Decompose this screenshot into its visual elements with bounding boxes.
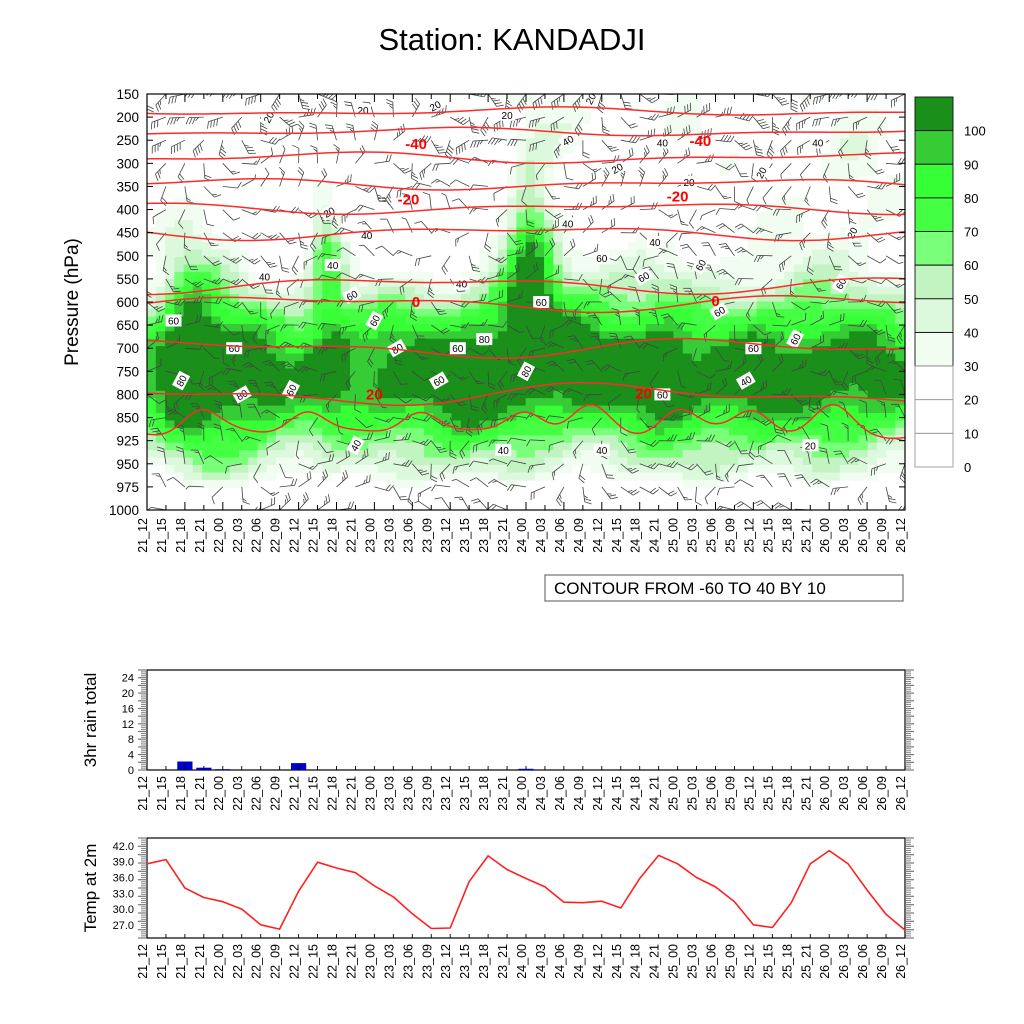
humidity-cell — [803, 339, 813, 347]
humidity-cell — [581, 383, 591, 391]
humidity-cell — [174, 272, 184, 280]
humidity-cell — [544, 190, 554, 198]
humidity-cell — [535, 212, 545, 220]
wind-barb-shaft — [189, 117, 204, 118]
humidity-cell — [174, 242, 184, 250]
humidity-cell — [618, 279, 628, 287]
humidity-cell — [803, 250, 813, 258]
humidity-cell — [221, 472, 231, 480]
humidity-cell — [479, 472, 489, 480]
humidity-cell — [526, 190, 536, 198]
humidity-cell — [637, 250, 647, 258]
wind-barb-flag — [510, 514, 511, 521]
humidity-cell — [535, 287, 545, 295]
humidity-cell — [276, 316, 286, 324]
humidity-cell — [276, 450, 286, 458]
humidity-cell — [590, 294, 600, 302]
humidity-cell — [729, 287, 739, 295]
humidity-cell — [563, 428, 573, 436]
humidity-cell — [489, 316, 499, 324]
humidity-cell — [710, 361, 720, 369]
humidity-cell — [331, 331, 341, 339]
humidity-cell — [202, 339, 212, 347]
humidity-cell — [794, 465, 804, 473]
humidity-cell — [258, 420, 268, 428]
humidity-cell — [258, 443, 268, 451]
humidity-cell — [794, 458, 804, 466]
humidity-cell — [479, 287, 489, 295]
humidity-cell — [452, 443, 462, 451]
humidity-cell — [812, 383, 822, 391]
humidity-cell — [230, 376, 240, 384]
humidity-cell — [507, 309, 517, 317]
humidity-cell — [285, 302, 295, 310]
humidity-cell — [618, 354, 628, 362]
humidity-cell — [313, 190, 323, 198]
humidity-cell — [600, 391, 610, 399]
wind-barb-flag — [140, 431, 144, 437]
humidity-cell — [646, 354, 656, 362]
humidity-cell — [664, 420, 674, 428]
humidity-cell — [211, 480, 221, 488]
wind-barb-shaft — [776, 209, 791, 210]
humidity-cell — [147, 383, 157, 391]
humidity-cell — [230, 450, 240, 458]
humidity-cell — [729, 450, 739, 458]
wind-barb-flag — [356, 78, 361, 83]
humidity-cell — [563, 123, 573, 131]
humidity-cell — [147, 406, 157, 414]
humidity-cell — [572, 420, 582, 428]
humidity-cell — [692, 472, 702, 480]
humidity-cell — [544, 458, 554, 466]
humidity-cell — [267, 368, 277, 376]
humidity-cell — [794, 257, 804, 265]
humidity-cell — [239, 465, 249, 473]
humidity-cell — [165, 420, 175, 428]
humidity-cell — [840, 465, 850, 473]
humidity-cell — [258, 435, 268, 443]
wind-barb-shaft — [355, 80, 361, 94]
humidity-cell — [831, 138, 841, 146]
humidity-cell — [331, 383, 341, 391]
humidity-cell — [637, 420, 647, 428]
humidity-cell — [563, 406, 573, 414]
humidity-cell — [812, 376, 822, 384]
humidity-cell — [452, 435, 462, 443]
humidity-cell — [350, 376, 360, 384]
humidity-cell — [710, 398, 720, 406]
humidity-cell — [710, 331, 720, 339]
humidity-cell — [267, 413, 277, 421]
humidity-cell — [766, 376, 776, 384]
humidity-cell — [609, 391, 619, 399]
wind-barb-flag — [432, 82, 434, 86]
humidity-cell — [627, 324, 637, 332]
humidity-cell — [895, 398, 905, 406]
wind-barb-flag — [746, 83, 747, 90]
wind-barb-flag — [357, 75, 362, 80]
humidity-cell — [757, 376, 767, 384]
humidity-cell — [156, 413, 166, 421]
humidity-cell — [202, 331, 212, 339]
humidity-cell — [415, 324, 425, 332]
humidity-cell — [821, 361, 831, 369]
humidity-cell — [313, 361, 323, 369]
humidity-cell — [895, 428, 905, 436]
humidity-cell — [664, 376, 674, 384]
humidity-cell — [535, 406, 545, 414]
humidity-cell — [886, 346, 896, 354]
humidity-cell — [886, 406, 896, 414]
humidity-cell — [156, 250, 166, 258]
humidity-cell — [424, 302, 434, 310]
humidity-cell — [544, 376, 554, 384]
humidity-cell — [692, 339, 702, 347]
humidity-cell — [544, 316, 554, 324]
wind-barb-shaft — [716, 85, 728, 94]
humidity-cell — [405, 472, 415, 480]
humidity-cell — [202, 383, 212, 391]
humidity-cell — [184, 458, 194, 466]
humidity-cell — [692, 450, 702, 458]
humidity-cell — [812, 458, 822, 466]
humidity-cell — [747, 398, 757, 406]
humidity-cell — [766, 435, 776, 443]
humidity-cell — [193, 242, 203, 250]
humidity-cell — [452, 368, 462, 376]
humidity-cell — [868, 443, 878, 451]
humidity-cell — [572, 250, 582, 258]
humidity-cell — [276, 354, 286, 362]
wind-barb-flag — [491, 99, 496, 100]
humidity-cell — [516, 309, 526, 317]
humidity-cell — [267, 443, 277, 451]
humidity-cell — [784, 250, 794, 258]
humidity-cell — [627, 316, 637, 324]
wind-barb-flag — [284, 307, 285, 314]
humidity-cell — [489, 235, 499, 243]
humidity-cell — [165, 205, 175, 213]
humidity-cell — [470, 450, 480, 458]
humidity-cell — [184, 205, 194, 213]
humidity-cell — [858, 472, 868, 480]
humidity-cell — [849, 331, 859, 339]
wind-barb-flag — [686, 86, 687, 90]
humidity-cell — [784, 227, 794, 235]
humidity-cell — [849, 160, 859, 168]
humidity-cell — [378, 361, 388, 369]
humidity-cell — [507, 198, 517, 206]
humidity-cell — [553, 123, 563, 131]
humidity-cell — [230, 324, 240, 332]
humidity-cell — [174, 250, 184, 258]
humidity-cell — [313, 183, 323, 191]
humidity-cell — [812, 354, 822, 362]
humidity-cell — [239, 250, 249, 258]
humidity-cell — [766, 346, 776, 354]
humidity-cell — [609, 316, 619, 324]
humidity-cell — [239, 450, 249, 458]
humidity-cell — [683, 116, 693, 124]
humidity-cell — [507, 168, 517, 176]
humidity-cell — [803, 331, 813, 339]
humidity-cell — [368, 465, 378, 473]
humidity-cell — [147, 398, 157, 406]
humidity-cell — [230, 272, 240, 280]
humidity-cell — [747, 331, 757, 339]
humidity-cell — [387, 391, 397, 399]
humidity-cell — [285, 450, 295, 458]
wind-barb-flag — [701, 243, 708, 244]
humidity-cell — [350, 316, 360, 324]
humidity-cell — [230, 287, 240, 295]
humidity-cell — [526, 428, 536, 436]
humidity-cell — [637, 354, 647, 362]
humidity-cell — [276, 331, 286, 339]
humidity-cell — [396, 376, 406, 384]
humidity-cell — [895, 443, 905, 451]
humidity-cell — [415, 413, 425, 421]
humidity-cell — [803, 324, 813, 332]
humidity-cell — [858, 160, 868, 168]
humidity-cell — [258, 309, 268, 317]
humidity-cell — [720, 383, 730, 391]
humidity-cell — [710, 406, 720, 414]
humidity-cell — [590, 264, 600, 272]
humidity-cell — [775, 368, 785, 376]
humidity-cell — [193, 205, 203, 213]
humidity-cell — [701, 458, 711, 466]
humidity-cell — [710, 279, 720, 287]
humidity-cell — [609, 354, 619, 362]
humidity-cell — [313, 302, 323, 310]
humidity-cell — [757, 264, 767, 272]
humidity-cell — [803, 361, 813, 369]
humidity-cell — [655, 406, 665, 414]
humidity-cell — [710, 443, 720, 451]
humidity-cell — [165, 331, 175, 339]
humidity-cell — [378, 465, 388, 473]
humidity-cell — [664, 368, 674, 376]
humidity-cell — [248, 398, 258, 406]
humidity-cell — [655, 264, 665, 272]
humidity-cell — [544, 146, 554, 154]
humidity-cell — [461, 383, 471, 391]
humidity-cell — [322, 242, 332, 250]
humidity-cell — [147, 443, 157, 451]
wind-barb-flag — [740, 88, 742, 92]
humidity-cell — [692, 123, 702, 131]
humidity-cell — [285, 294, 295, 302]
humidity-cell — [239, 287, 249, 295]
humidity-cell — [387, 383, 397, 391]
humidity-cell — [720, 160, 730, 168]
humidity-cell — [221, 480, 231, 488]
humidity-cell — [775, 376, 785, 384]
humidity-cell — [165, 465, 175, 473]
humidity-cell — [221, 309, 231, 317]
humidity-cell — [572, 368, 582, 376]
humidity-cell — [646, 294, 656, 302]
humidity-cell — [184, 264, 194, 272]
humidity-cell — [526, 168, 536, 176]
humidity-cell — [452, 324, 462, 332]
humidity-cell — [341, 458, 351, 466]
humidity-cell — [248, 287, 258, 295]
humidity-cell — [720, 450, 730, 458]
humidity-cell — [738, 443, 748, 451]
humidity-cell — [775, 250, 785, 258]
humidity-cell — [627, 346, 637, 354]
humidity-cell — [378, 376, 388, 384]
humidity-cell — [858, 428, 868, 436]
humidity-cell — [285, 465, 295, 473]
humidity-cell — [498, 346, 508, 354]
humidity-cell — [331, 443, 341, 451]
humidity-cell — [840, 242, 850, 250]
humidity-cell — [674, 383, 684, 391]
humidity-cell — [452, 376, 462, 384]
humidity-cell — [304, 346, 314, 354]
humidity-cell — [794, 227, 804, 235]
wind-barb-shaft — [678, 88, 692, 94]
humidity-cell — [600, 398, 610, 406]
humidity-cell — [563, 443, 573, 451]
humidity-cell — [535, 309, 545, 317]
humidity-cell — [683, 354, 693, 362]
wind-barb-shaft — [469, 325, 484, 326]
humidity-cell — [729, 472, 739, 480]
humidity-cell — [710, 368, 720, 376]
humidity-cell — [812, 391, 822, 399]
humidity-cell — [248, 368, 258, 376]
humidity-cell — [868, 198, 878, 206]
humidity-cell — [849, 309, 859, 317]
humidity-cell — [424, 339, 434, 347]
humidity-cell — [674, 123, 684, 131]
humidity-cell — [442, 287, 452, 295]
humidity-cell — [609, 443, 619, 451]
humidity-cell — [341, 250, 351, 258]
humidity-cell — [258, 339, 268, 347]
humidity-cell — [766, 220, 776, 228]
humidity-cell — [415, 354, 425, 362]
humidity-cell — [600, 302, 610, 310]
humidity-cell — [331, 406, 341, 414]
humidity-cell — [230, 465, 240, 473]
humidity-cell — [590, 420, 600, 428]
humidity-cell — [433, 316, 443, 324]
humidity-cell — [526, 435, 536, 443]
humidity-cell — [821, 346, 831, 354]
humidity-cell — [184, 465, 194, 473]
humidity-cell — [572, 316, 582, 324]
humidity-cell — [784, 465, 794, 473]
humidity-cell — [895, 287, 905, 295]
humidity-cell — [184, 472, 194, 480]
wind-barb-flag — [141, 428, 145, 434]
humidity-cell — [396, 472, 406, 480]
humidity-cell — [211, 435, 221, 443]
humidity-cell — [553, 316, 563, 324]
humidity-cell — [535, 183, 545, 191]
humidity-cell — [202, 472, 212, 480]
humidity-cell — [378, 472, 388, 480]
humidity-cell — [729, 257, 739, 265]
humidity-cell — [664, 472, 674, 480]
humidity-cell — [766, 212, 776, 220]
humidity-cell — [784, 450, 794, 458]
humidity-cell — [729, 406, 739, 414]
humidity-cell — [794, 450, 804, 458]
humidity-cell — [341, 309, 351, 317]
humidity-cell — [341, 413, 351, 421]
humidity-cell — [479, 361, 489, 369]
humidity-cell — [794, 250, 804, 258]
humidity-cell — [563, 361, 573, 369]
humidity-cell — [563, 101, 573, 109]
humidity-cell — [193, 472, 203, 480]
humidity-cell — [526, 175, 536, 183]
humidity-cell — [285, 398, 295, 406]
humidity-cell — [479, 316, 489, 324]
humidity-cell — [581, 108, 591, 116]
humidity-cell — [479, 257, 489, 265]
humidity-cell — [747, 294, 757, 302]
humidity-cell — [184, 354, 194, 362]
humidity-cell — [433, 279, 443, 287]
humidity-cell — [350, 264, 360, 272]
humidity-cell — [627, 354, 637, 362]
humidity-cell — [498, 309, 508, 317]
humidity-cell — [886, 190, 896, 198]
humidity-cell — [877, 190, 887, 198]
humidity-cell — [877, 316, 887, 324]
humidity-cell — [877, 287, 887, 295]
humidity-cell — [544, 435, 554, 443]
humidity-cell — [147, 435, 157, 443]
humidity-cell — [359, 287, 369, 295]
humidity-cell — [886, 339, 896, 347]
humidity-cell — [313, 428, 323, 436]
humidity-cell — [359, 302, 369, 310]
humidity-cell — [553, 458, 563, 466]
wind-barb-flag — [766, 380, 767, 387]
humidity-cell — [479, 413, 489, 421]
humidity-cell — [221, 398, 231, 406]
humidity-cell — [581, 272, 591, 280]
humidity-cell — [507, 287, 517, 295]
humidity-cell — [359, 465, 369, 473]
humidity-cell — [507, 257, 517, 265]
humidity-cell — [544, 168, 554, 176]
humidity-cell — [498, 339, 508, 347]
humidity-cell — [674, 443, 684, 451]
humidity-cell — [202, 272, 212, 280]
humidity-cell — [600, 324, 610, 332]
wind-barb-flag — [230, 431, 235, 432]
humidity-cell — [720, 435, 730, 443]
humidity-cell — [821, 435, 831, 443]
humidity-cell — [563, 250, 573, 258]
humidity-cell — [563, 398, 573, 406]
humidity-cell — [433, 465, 443, 473]
humidity-cell — [729, 383, 739, 391]
humidity-cell — [895, 361, 905, 369]
humidity-cell — [544, 257, 554, 265]
humidity-cell — [590, 435, 600, 443]
